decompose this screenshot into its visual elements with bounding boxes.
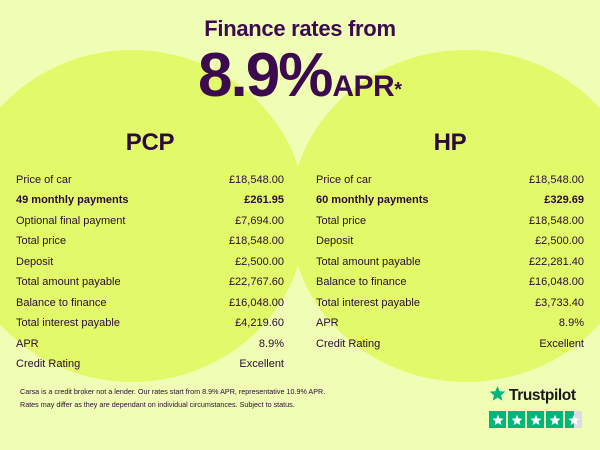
table-row: Total interest payable£3,733.40 xyxy=(316,293,584,314)
finance-table-hp: HP Price of car£18,548.0060 monthly paym… xyxy=(300,129,600,375)
row-label: Balance to finance xyxy=(316,276,407,290)
row-value: £2,500.00 xyxy=(235,256,284,270)
table-heading-pcp: PCP xyxy=(16,129,284,157)
rating-star-filled xyxy=(508,411,525,428)
page-title: Finance rates from xyxy=(0,17,600,41)
table-row: Total interest payable£4,219.60 xyxy=(16,314,284,335)
disclaimer-line-1: Carsa is a credit broker not a lender. O… xyxy=(20,386,350,399)
row-value: £18,548.00 xyxy=(529,215,584,229)
row-value: Excellent xyxy=(239,358,284,372)
row-value: £4,219.60 xyxy=(235,317,284,331)
rating-star-filled xyxy=(546,411,563,428)
trustpilot-star-icon xyxy=(489,385,506,407)
row-value: £261.95 xyxy=(244,194,284,208)
row-value: £18,548.00 xyxy=(229,174,284,188)
table-row: APR8.9% xyxy=(316,314,584,335)
row-value: £18,548.00 xyxy=(229,235,284,249)
rating-star-filled xyxy=(527,411,544,428)
row-label: Deposit xyxy=(16,256,53,270)
headline-rate: 8.9% APR * xyxy=(0,45,600,107)
row-label: Price of car xyxy=(316,174,372,188)
row-value: £329.69 xyxy=(544,194,584,208)
row-label: Balance to finance xyxy=(16,297,107,311)
row-label: Credit Rating xyxy=(316,338,380,352)
row-label: 60 monthly payments xyxy=(316,194,428,208)
row-value: 8.9% xyxy=(259,338,284,352)
table-heading-hp: HP xyxy=(316,129,584,157)
banner-header: Finance rates from 8.9% APR * xyxy=(0,0,600,107)
row-label: APR xyxy=(16,338,39,352)
row-value: £3,733.40 xyxy=(535,297,584,311)
row-value: £22,281.40 xyxy=(529,256,584,270)
row-label: Optional final payment xyxy=(16,215,125,229)
table-rows-pcp: Price of car£18,548.0049 monthly payment… xyxy=(16,170,284,375)
table-row: Price of car£18,548.00 xyxy=(16,170,284,191)
trustpilot-logo: Trustpilot xyxy=(489,385,589,407)
table-row: APR8.9% xyxy=(16,334,284,355)
table-row: 49 monthly payments£261.95 xyxy=(16,191,284,212)
row-label: 49 monthly payments xyxy=(16,194,128,208)
row-value: £2,500.00 xyxy=(535,235,584,249)
table-row: Deposit£2,500.00 xyxy=(16,252,284,273)
disclaimer-line-2: Rates may differ as they are dependant o… xyxy=(20,399,350,412)
table-rows-hp: Price of car£18,548.0060 monthly payment… xyxy=(316,170,584,355)
row-value: £22,767.60 xyxy=(229,276,284,290)
rating-star-filled xyxy=(489,411,506,428)
table-row: 60 monthly payments£329.69 xyxy=(316,191,584,212)
trustpilot-badge[interactable]: Trustpilot xyxy=(489,385,589,428)
row-label: Total amount payable xyxy=(316,256,421,270)
table-row: Balance to finance£16,048.00 xyxy=(316,273,584,294)
row-label: Total price xyxy=(316,215,366,229)
table-row: Deposit£2,500.00 xyxy=(316,232,584,253)
table-row: Total price£18,548.00 xyxy=(316,211,584,232)
rate-value: 8.9% xyxy=(198,45,331,107)
row-value: £16,048.00 xyxy=(529,276,584,290)
row-value: £16,048.00 xyxy=(229,297,284,311)
banner-footer: Carsa is a credit broker not a lender. O… xyxy=(0,380,600,450)
trustpilot-rating-stars xyxy=(489,411,589,428)
table-row: Credit RatingExcellent xyxy=(16,355,284,376)
trustpilot-wordmark: Trustpilot xyxy=(509,388,576,404)
row-value: £7,694.00 xyxy=(235,215,284,229)
table-row: Optional final payment£7,694.00 xyxy=(16,211,284,232)
rating-star-half xyxy=(565,411,582,428)
row-label: Total interest payable xyxy=(16,317,120,331)
table-row: Total amount payable£22,767.60 xyxy=(16,273,284,294)
finance-comparison-tables: PCP Price of car£18,548.0049 monthly pay… xyxy=(0,129,600,375)
row-value: Excellent xyxy=(539,338,584,352)
rate-asterisk: * xyxy=(394,80,402,100)
rate-suffix: APR xyxy=(332,72,394,102)
row-label: Total interest payable xyxy=(316,297,420,311)
row-label: Total price xyxy=(16,235,66,249)
table-row: Total price£18,548.00 xyxy=(16,232,284,253)
table-row: Balance to finance£16,048.00 xyxy=(16,293,284,314)
row-label: Total amount payable xyxy=(16,276,121,290)
table-row: Total amount payable£22,281.40 xyxy=(316,252,584,273)
row-label: APR xyxy=(316,317,339,331)
table-row: Credit RatingExcellent xyxy=(316,334,584,355)
disclaimer-text: Carsa is a credit broker not a lender. O… xyxy=(20,386,350,411)
table-row: Price of car£18,548.00 xyxy=(316,170,584,191)
row-label: Deposit xyxy=(316,235,353,249)
row-label: Price of car xyxy=(16,174,72,188)
row-label: Credit Rating xyxy=(16,358,80,372)
row-value: 8.9% xyxy=(559,317,584,331)
finance-table-pcp: PCP Price of car£18,548.0049 monthly pay… xyxy=(0,129,300,375)
finance-rates-banner: Finance rates from 8.9% APR * PCP Price … xyxy=(0,0,600,450)
row-value: £18,548.00 xyxy=(529,174,584,188)
